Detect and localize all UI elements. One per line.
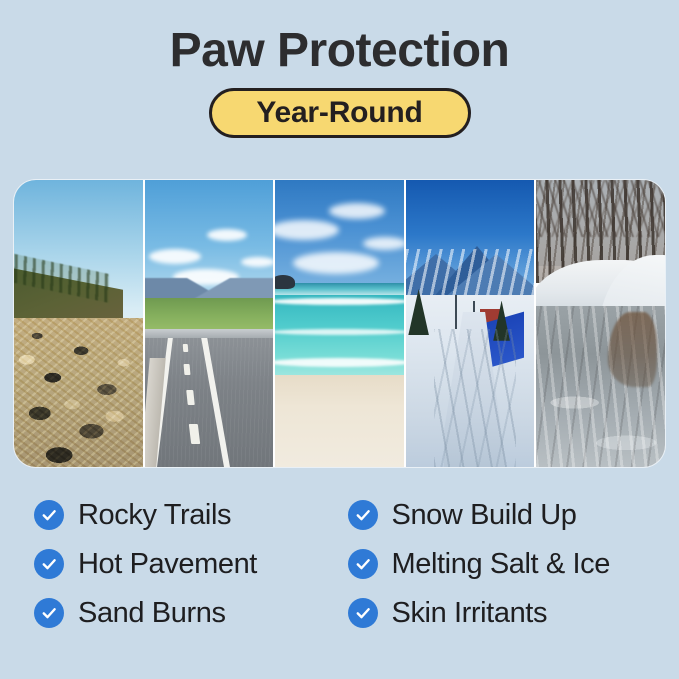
list-item: Skin Irritants — [348, 590, 660, 636]
list-item-label: Hot Pavement — [78, 548, 257, 581]
utility-pole — [455, 295, 457, 329]
list-item: Sand Burns — [34, 590, 346, 636]
check-circle-icon — [348, 500, 378, 530]
hot-pavement-scene — [145, 180, 274, 467]
list-item-label: Melting Salt & Ice — [392, 548, 610, 581]
year-round-badge: Year-Round — [209, 88, 471, 138]
gallery-panel-melting-slush — [536, 180, 665, 467]
tire-tracks — [434, 329, 516, 467]
lane-dash — [183, 344, 189, 352]
list-item: Hot Pavement — [34, 541, 346, 587]
tree-canopy — [536, 180, 665, 237]
header: Paw Protection Year-Round — [0, 0, 679, 138]
sandy-beach-scene — [275, 180, 404, 467]
cloud — [293, 252, 379, 274]
list-item-label: Rocky Trails — [78, 499, 231, 532]
lane-dash — [188, 424, 199, 444]
list-item: Snow Build Up — [348, 492, 660, 538]
check-circle-icon — [34, 598, 64, 628]
shore-rock — [275, 275, 295, 289]
melting-slush-scene — [536, 180, 665, 467]
rubble-texture — [14, 318, 143, 467]
surf-foam — [275, 358, 404, 367]
surf-foam — [275, 298, 404, 305]
check-circle-icon — [34, 500, 64, 530]
page-title: Paw Protection — [0, 26, 679, 76]
mountain-snow-caps — [406, 249, 535, 298]
check-circle-icon — [348, 549, 378, 579]
sand — [275, 375, 404, 467]
ocean-water — [275, 295, 404, 381]
badge-row: Year-Round — [0, 88, 679, 138]
rocky-trail-scene — [14, 180, 143, 467]
list-item-label: Snow Build Up — [392, 499, 577, 532]
list-item-label: Sand Burns — [78, 597, 226, 630]
gallery-panel-rocky-trail — [14, 180, 143, 467]
list-item-label: Skin Irritants — [392, 597, 548, 630]
list-item: Rocky Trails — [34, 492, 346, 538]
list-item: Melting Salt & Ice — [348, 541, 660, 587]
cloud — [149, 249, 201, 264]
gallery-panel-sandy-beach — [275, 180, 404, 467]
snowy-road-scene — [406, 180, 535, 467]
cloud — [207, 229, 247, 241]
gallery-panel-hot-pavement — [145, 180, 274, 467]
gallery-panel-snowy-road — [406, 180, 535, 467]
benefits-checklist: Rocky Trails Hot Pavement Sand Burns — [0, 492, 679, 639]
image-gallery-strip — [14, 180, 665, 467]
cloud — [329, 203, 385, 219]
check-circle-icon — [34, 549, 64, 579]
checklist-column-right: Snow Build Up Melting Salt & Ice Skin Ir… — [346, 492, 660, 639]
muddy-road-edge — [608, 312, 657, 387]
check-circle-icon — [348, 598, 378, 628]
checklist-column-left: Rocky Trails Hot Pavement Sand Burns — [34, 492, 346, 639]
